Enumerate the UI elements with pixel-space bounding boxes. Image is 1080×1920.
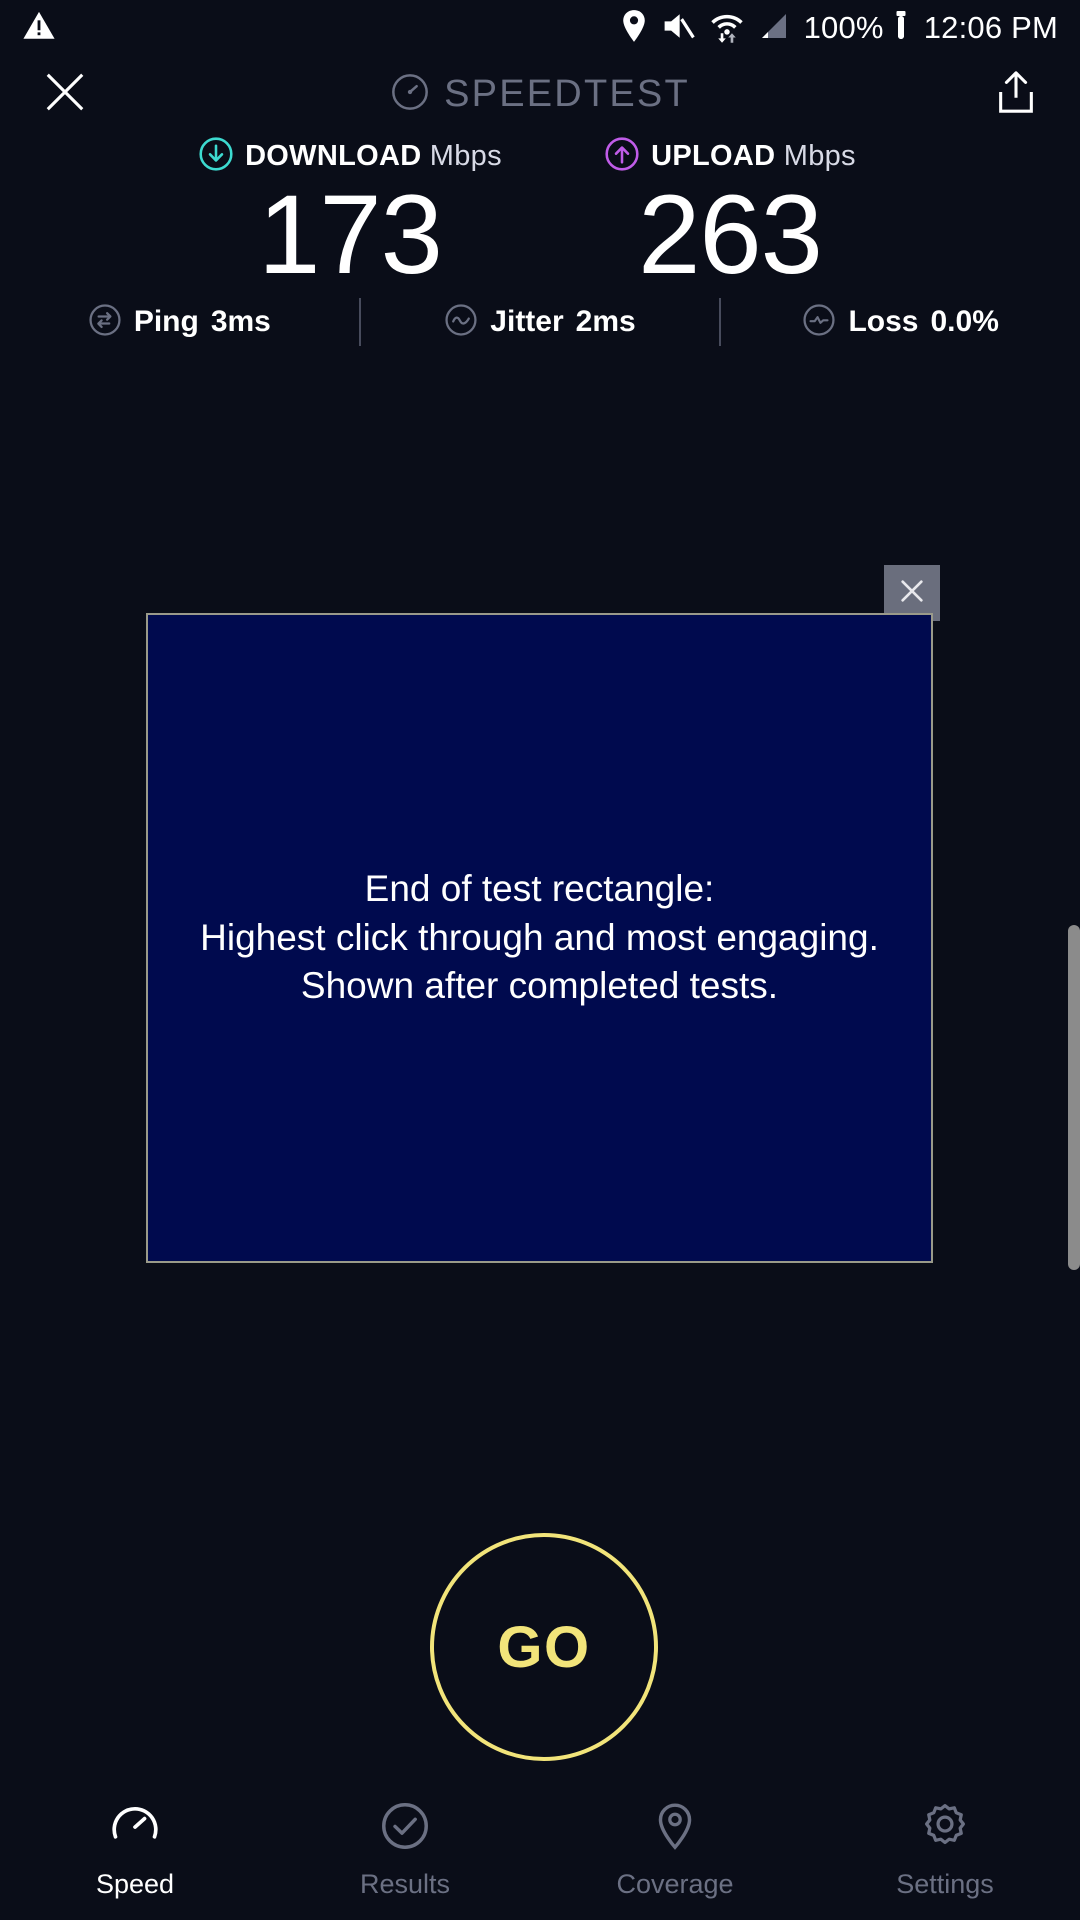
- ping-icon: [88, 303, 122, 342]
- upload-value: 263: [638, 178, 822, 292]
- close-x-icon[interactable]: [42, 69, 88, 120]
- page-scrollbar[interactable]: [1068, 925, 1080, 1270]
- upload-arrow-icon: [604, 136, 640, 177]
- location-pin-icon: [620, 9, 648, 48]
- nav-item-speed[interactable]: Speed: [0, 1800, 270, 1900]
- wifi-transfer-icon: [710, 9, 744, 48]
- nav-item-settings[interactable]: Settings: [810, 1800, 1080, 1900]
- nav-label-coverage: Coverage: [616, 1869, 733, 1900]
- upload-label: UPLOAD Mbps: [651, 140, 856, 173]
- speedtest-gauge-icon: [390, 72, 430, 117]
- battery-percent-label: 100%: [804, 10, 884, 46]
- advertisement-banner[interactable]: End of test rectangle: Highest click thr…: [146, 613, 933, 1263]
- check-circle-icon: [379, 1800, 431, 1857]
- nav-item-results[interactable]: Results: [270, 1800, 540, 1900]
- cellular-signal-icon: [758, 10, 790, 47]
- ad-text-block: End of test rectangle: Highest click thr…: [200, 865, 879, 1011]
- gear-icon: [919, 1800, 971, 1857]
- app-title-group: SPEEDTEST: [0, 72, 1080, 117]
- ping-stat: Ping 3ms: [0, 303, 359, 342]
- speedometer-icon: [109, 1800, 161, 1857]
- status-bar-left: [22, 9, 56, 48]
- nav-item-coverage[interactable]: Coverage: [540, 1800, 810, 1900]
- upload-label-text: UPLOAD: [651, 140, 775, 172]
- jitter-stat: Jitter 2ms: [361, 303, 720, 342]
- volume-muted-icon: [662, 10, 696, 47]
- download-label-text: DOWNLOAD: [245, 140, 421, 172]
- ad-line-3: Shown after completed tests.: [200, 962, 879, 1011]
- ping-value: 3ms: [211, 305, 271, 339]
- app-header: SPEEDTEST: [0, 56, 1080, 132]
- network-stats-row: Ping 3ms Jitter 2ms Loss 0.0%: [0, 295, 1080, 349]
- nav-label-speed: Speed: [96, 1869, 174, 1900]
- ad-line-1: End of test rectangle:: [200, 865, 879, 914]
- go-button-label: GO: [497, 1614, 590, 1681]
- loss-label: Loss: [848, 305, 918, 339]
- go-button[interactable]: GO: [430, 1533, 658, 1761]
- download-metric: DOWNLOAD Mbps 173: [160, 136, 540, 292]
- ad-line-2: Highest click through and most engaging.: [200, 914, 879, 963]
- upload-unit: Mbps: [784, 140, 856, 172]
- status-bar-right: 100% 12:06 PM: [620, 9, 1058, 48]
- page-title: SPEEDTEST: [444, 73, 690, 116]
- download-label: DOWNLOAD Mbps: [245, 140, 502, 173]
- upload-metric: UPLOAD Mbps 263: [540, 136, 920, 292]
- ad-close-x-icon: [896, 575, 928, 612]
- battery-full-icon: [898, 19, 904, 37]
- loss-value: 0.0%: [931, 305, 999, 339]
- bottom-navigation: Speed Results Coverage Settings: [0, 1780, 1080, 1920]
- ping-label: Ping: [134, 305, 199, 339]
- download-value: 173: [258, 178, 442, 292]
- map-pin-icon: [649, 1800, 701, 1857]
- download-arrow-icon: [198, 136, 234, 177]
- results-summary: DOWNLOAD Mbps 173 UPLOAD Mbps 263: [0, 136, 1080, 292]
- loss-stat: Loss 0.0%: [721, 303, 1080, 342]
- nav-label-results: Results: [360, 1869, 450, 1900]
- download-unit: Mbps: [430, 140, 502, 172]
- share-upload-icon[interactable]: [994, 69, 1038, 120]
- jitter-icon: [444, 303, 478, 342]
- clock-label: 12:06 PM: [924, 10, 1058, 46]
- status-bar: 100% 12:06 PM: [0, 0, 1080, 56]
- upload-label-row: UPLOAD Mbps: [604, 136, 856, 176]
- jitter-value: 2ms: [576, 305, 636, 339]
- loss-icon: [802, 303, 836, 342]
- warning-triangle-icon: [22, 9, 56, 48]
- nav-label-settings: Settings: [896, 1869, 994, 1900]
- jitter-label: Jitter: [490, 305, 563, 339]
- download-upload-row: DOWNLOAD Mbps 173 UPLOAD Mbps 263: [0, 136, 1080, 292]
- download-label-row: DOWNLOAD Mbps: [198, 136, 502, 176]
